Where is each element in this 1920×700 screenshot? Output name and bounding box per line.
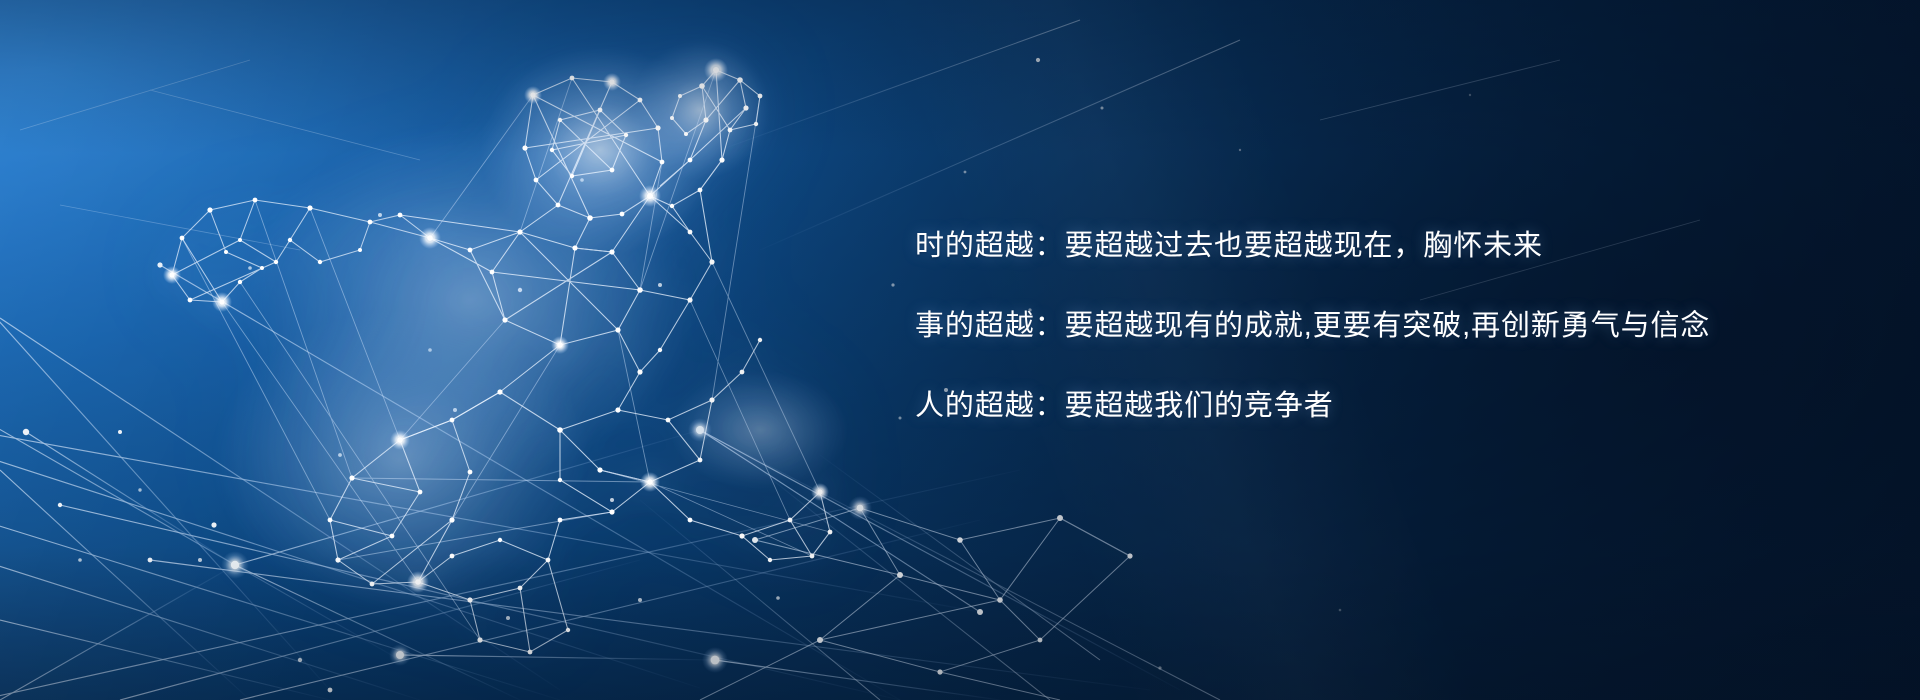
slogan-line-time: 时的超越：要超越过去也要超越现在，胸怀未来 [915, 232, 1815, 261]
hero-banner: 时的超越：要超越过去也要超越现在，胸怀未来 事的超越：要超越现有的成就,更要有突… [0, 0, 1920, 700]
slogan-line-people: 人的超越：要超越我们的竞争者 [915, 392, 1815, 421]
slogan-block: 时的超越：要超越过去也要超越现在，胸怀未来 事的超越：要超越现有的成就,更要有突… [915, 232, 1815, 421]
slogan-line-work: 事的超越：要超越现有的成就,更要有突破,再创新勇气与信念 [915, 312, 1815, 341]
